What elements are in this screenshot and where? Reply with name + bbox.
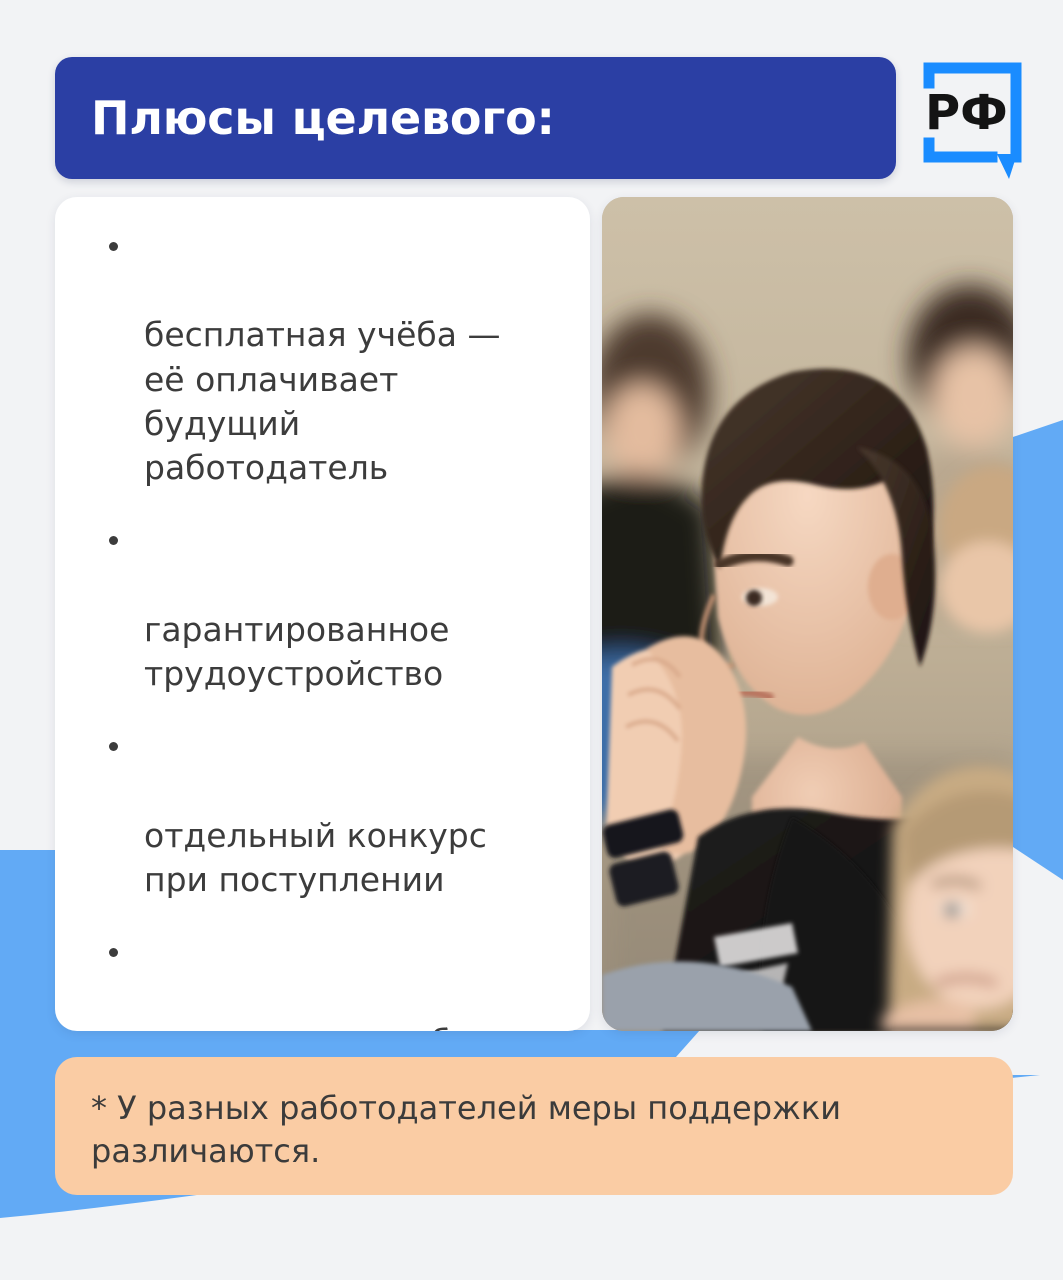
list-item-text: бесплатная учёба — её оплачивает будущий… [144,315,500,487]
benefits-card: бесплатная учёба — её оплачивает будущий… [55,197,590,1031]
bullet-dot-icon [109,536,118,545]
list-item: бесплатная учёба — её оплачивает будущий… [99,225,572,490]
bullet-dot-icon [109,948,118,957]
rf-logo[interactable]: РФ [915,57,1033,179]
students-in-lecture-photo [602,197,1013,1031]
rf-logo-text: РФ [925,85,1008,141]
infographic-canvas: Плюсы целевого: РФ бесплатная учёба — её… [0,0,1063,1280]
rf-speech-bubble-logo: РФ [915,57,1033,179]
bullet-dot-icon [109,742,118,751]
list-item-text: отдельный конкурс при поступлении [144,816,487,899]
title-plate: Плюсы целевого: [55,57,896,179]
list-item: возможность выбрать работодателя [99,931,572,1031]
benefits-list: бесплатная учёба — её оплачивает будущий… [99,225,572,1031]
bullet-dot-icon [109,242,118,251]
page-title: Плюсы целевого: [91,91,555,145]
list-item-text: гарантированное трудоустройство [144,610,449,693]
photo-illustration [602,197,1013,1031]
footnote-text: * У разных работодателей меры поддержки … [91,1087,977,1172]
list-item: отдельный конкурс при поступлении [99,725,572,902]
header: Плюсы целевого: РФ [55,57,1015,179]
list-item-text: возможность выбрать работодателя [144,1022,531,1032]
list-item: гарантированное трудоустройство [99,519,572,696]
footnote-card: * У разных работодателей меры поддержки … [55,1057,1013,1195]
right-accent-shape [1010,420,1063,880]
